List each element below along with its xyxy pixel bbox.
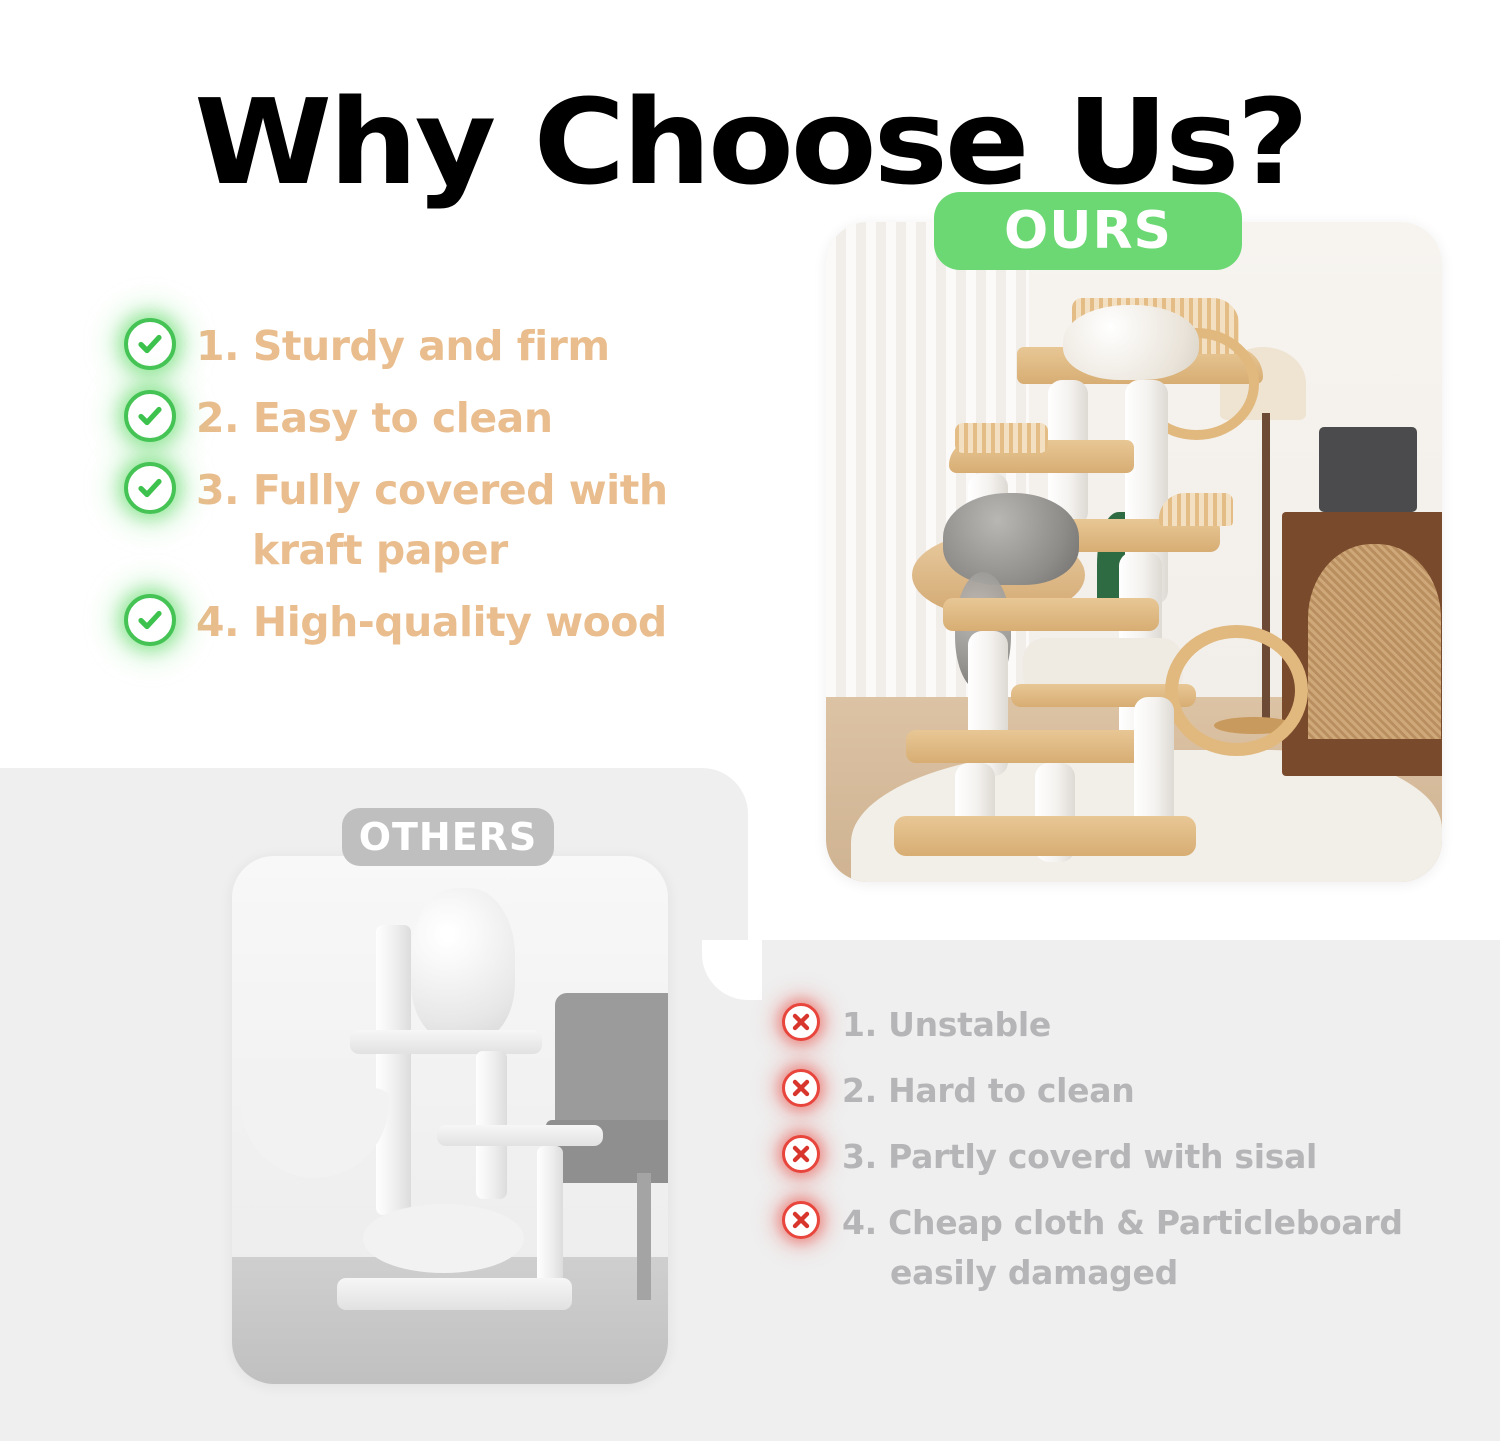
- round-plush-bed: [363, 1204, 524, 1273]
- list-item: 4. Cheap cloth & Particleboard easily da…: [782, 1198, 1482, 1298]
- list-item: 3. Partly coverd with sisal: [782, 1132, 1482, 1182]
- coffee-machine: [1319, 427, 1418, 513]
- check-circle-icon: [124, 462, 182, 520]
- plush-main-post: [376, 925, 411, 1215]
- check-circle-icon: [124, 594, 182, 652]
- lower-platform: [943, 598, 1159, 631]
- ours-scene: [826, 222, 1442, 882]
- list-item: 3. Fully covered with kraft paper: [124, 460, 804, 580]
- list-item: 1. Unstable: [782, 1000, 1482, 1050]
- base-board: [894, 816, 1196, 856]
- others-badge: OTHERS: [342, 808, 554, 866]
- wood-cabinet: [1282, 512, 1442, 776]
- list-item: 2. Hard to clean: [782, 1066, 1482, 1116]
- white-cat: [1063, 305, 1199, 381]
- x-circle-icon: [782, 1003, 826, 1047]
- page-title: Why Choose Us?: [0, 75, 1500, 211]
- plush-post-c: [537, 1146, 563, 1294]
- plush-base-board: [337, 1278, 572, 1310]
- plush-step-upper: [437, 1125, 603, 1146]
- list-item: 4. High-quality wood: [124, 592, 804, 652]
- check-circle-icon: [124, 390, 182, 448]
- list-item-label: 4. High-quality wood: [196, 592, 667, 652]
- x-circle-icon: [782, 1069, 826, 1113]
- list-item-label: 1. Unstable: [842, 1000, 1051, 1050]
- check-circle-icon: [124, 318, 182, 376]
- list-item-label: 2. Hard to clean: [842, 1066, 1134, 1116]
- mid-rail: [1159, 493, 1233, 526]
- x-circle-icon: [782, 1201, 826, 1245]
- armchair-leg-a: [637, 1173, 650, 1300]
- list-item: 1. Sturdy and firm: [124, 316, 804, 376]
- mid-upper-rail: [955, 423, 1047, 453]
- floor: [232, 1257, 668, 1384]
- ours-badge: OURS: [934, 192, 1242, 270]
- others-product-image: [232, 856, 668, 1384]
- cane-panel: [1308, 544, 1441, 739]
- list-item-label: 3. Fully covered with kraft paper: [196, 460, 668, 580]
- list-item-label: 2. Easy to clean: [196, 388, 553, 448]
- list-item-label: 3. Partly coverd with sisal: [842, 1132, 1317, 1182]
- gray-cat: [943, 493, 1079, 585]
- armchair-back: [555, 993, 668, 1141]
- bottom-step: [906, 730, 1152, 763]
- pros-list: 1. Sturdy and firm 2. Easy to clean 3. F…: [124, 316, 804, 664]
- list-item: 2. Easy to clean: [124, 388, 804, 448]
- x-circle-icon: [782, 1135, 826, 1179]
- ragdoll-cat: [411, 888, 516, 1041]
- cons-list: 1. Unstable 2. Hard to clean 3. Partly c…: [782, 1000, 1482, 1314]
- others-scene: [232, 856, 668, 1384]
- list-item-label: 1. Sturdy and firm: [196, 316, 610, 376]
- list-item-label: 4. Cheap cloth & Particleboard easily da…: [842, 1198, 1403, 1298]
- tunnel-hoop: [1165, 625, 1308, 757]
- ours-product-image: [826, 222, 1442, 882]
- plush-top-platform: [350, 1030, 542, 1054]
